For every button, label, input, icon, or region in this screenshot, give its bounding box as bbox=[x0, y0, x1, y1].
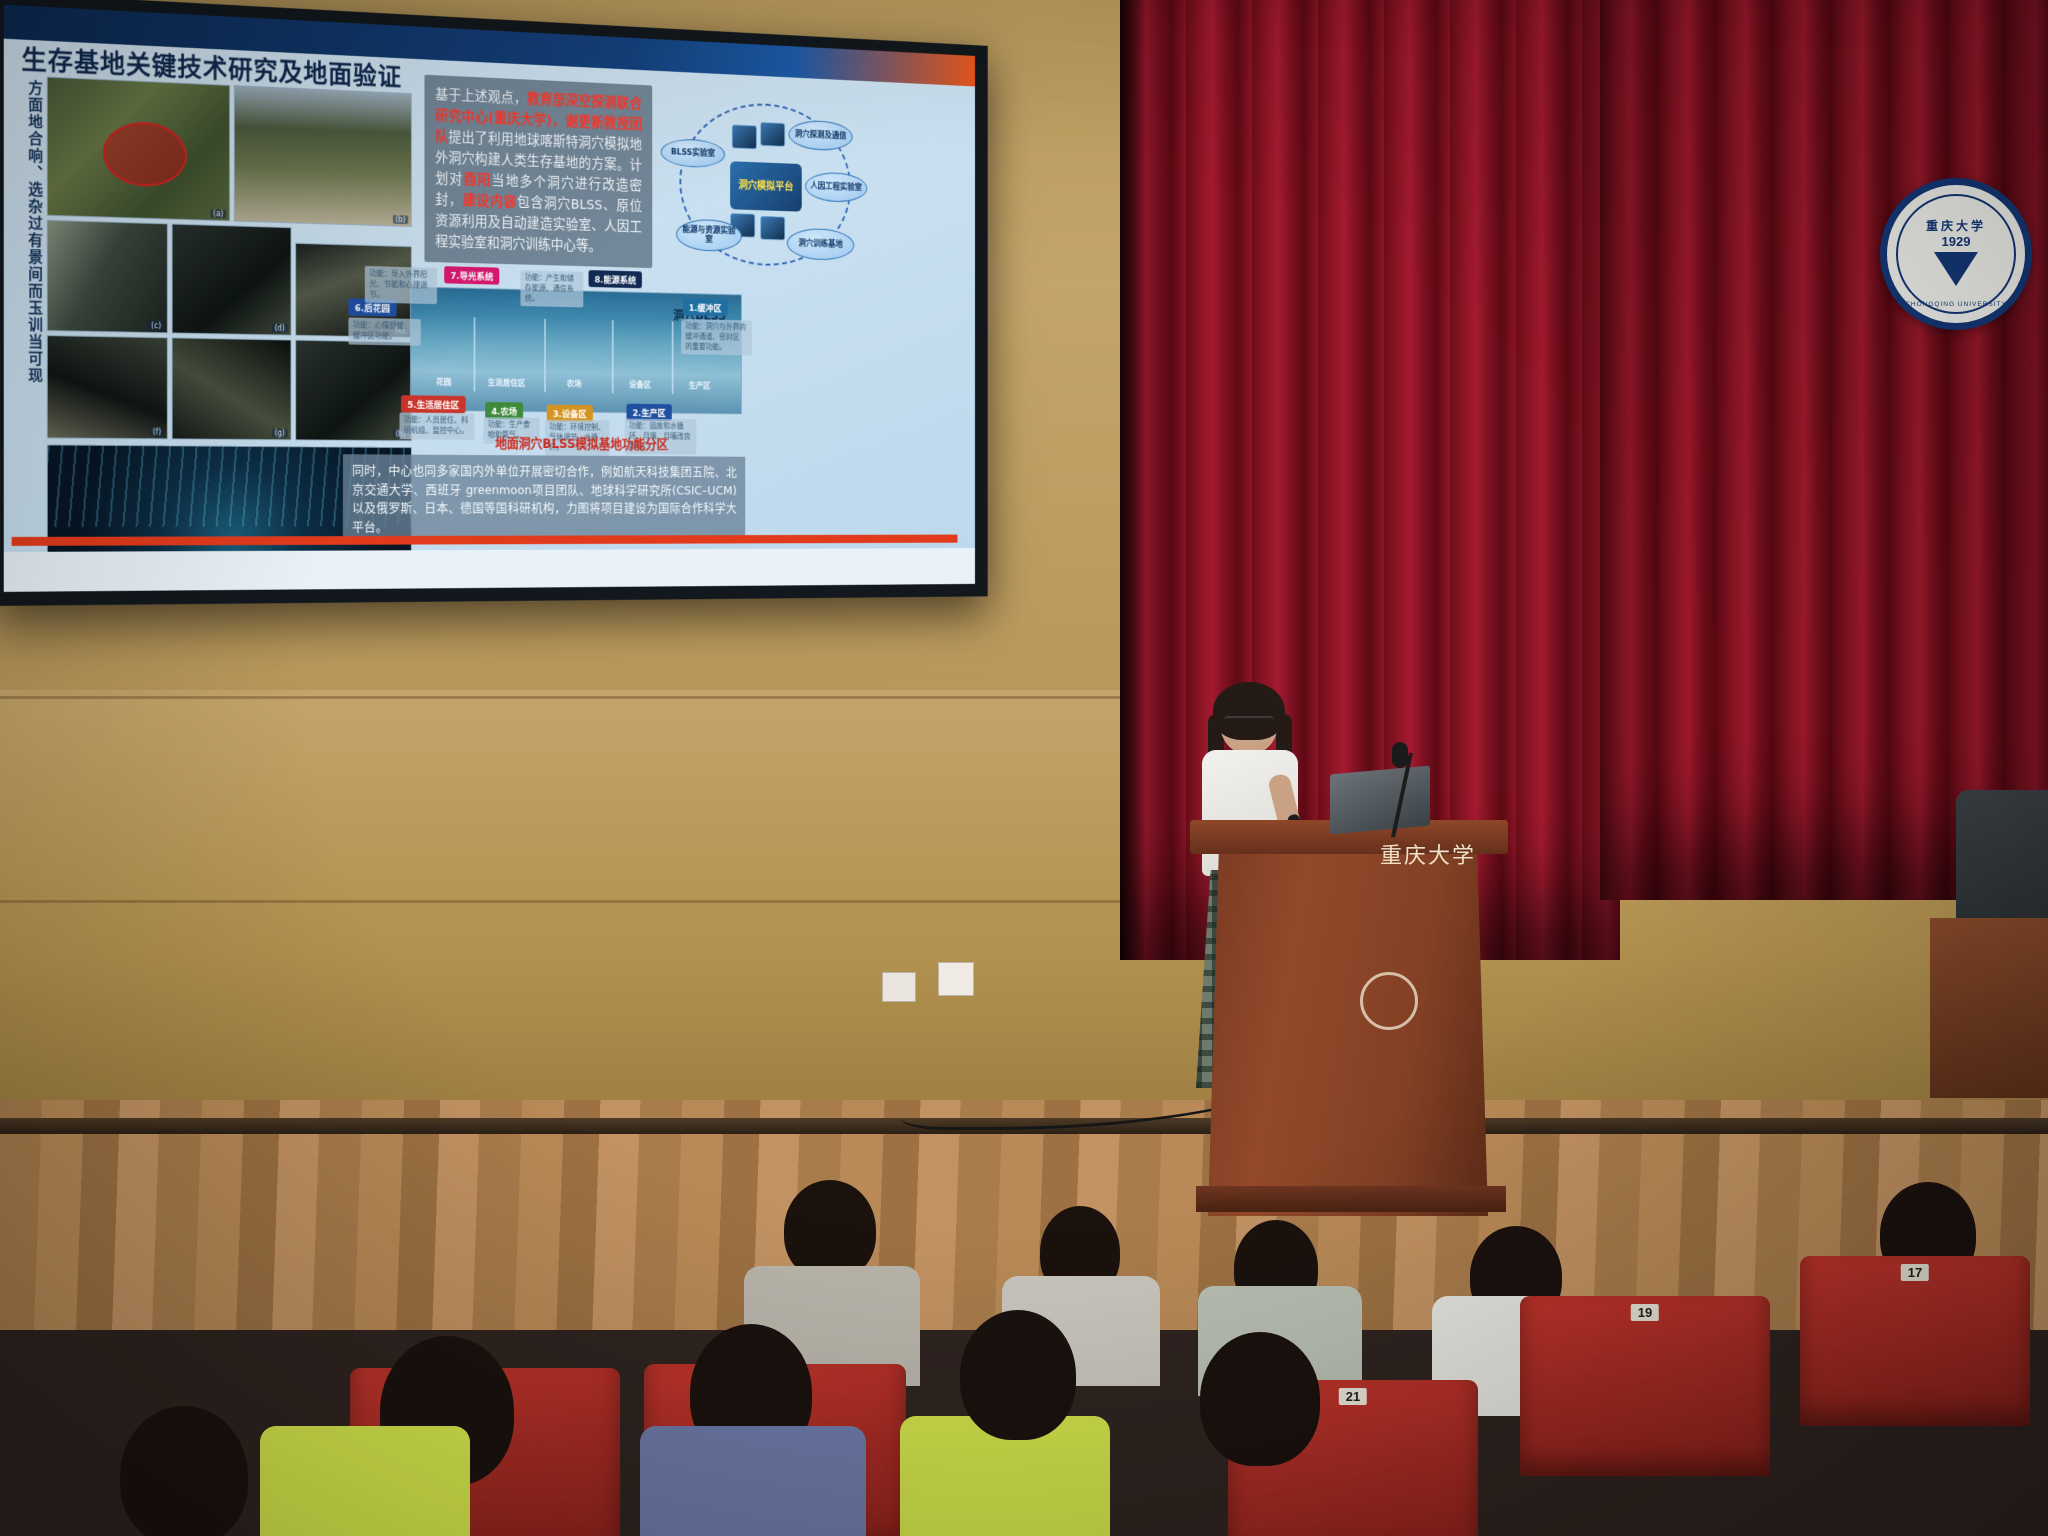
photo-karst-hill: (b) bbox=[234, 85, 412, 227]
speaker-hair bbox=[1213, 682, 1285, 740]
para-seg-highlight: 酉阳 bbox=[464, 173, 492, 189]
diagram-tile bbox=[760, 122, 785, 147]
podium bbox=[1208, 838, 1488, 1216]
photo-caption: (a) bbox=[210, 209, 226, 218]
seat-number: 21 bbox=[1339, 1388, 1367, 1405]
laptop bbox=[1330, 766, 1430, 835]
blss-tag-energy-system: 8.能源系统 bbox=[589, 270, 643, 288]
blss-bay-divider bbox=[612, 320, 614, 393]
photo-cave-interior-4: (g) bbox=[172, 337, 292, 440]
emblem-name-cn: 重庆大学 bbox=[1926, 217, 1986, 234]
photo-aerial-site: (a) bbox=[47, 77, 230, 222]
slide-footer-strip bbox=[4, 548, 975, 592]
wall-outlet bbox=[882, 972, 916, 1002]
glasses-icon bbox=[1224, 716, 1274, 728]
blss-zone-label-living: 生活居住区 bbox=[488, 376, 526, 388]
podium-seal bbox=[1360, 972, 1418, 1030]
blss-zone-label-garden: 花园 bbox=[436, 376, 451, 388]
stage-curtain-right bbox=[1600, 0, 2048, 900]
blss-bay-divider bbox=[672, 322, 674, 395]
seat-17[interactable]: 17 bbox=[1800, 1256, 2030, 1426]
photo-cave-interior-1: (d) bbox=[172, 224, 292, 336]
blss-zone-label-farm: 农场 bbox=[567, 378, 582, 389]
slide-left-column-text: 方面地合响、选杂过有景间而玉训当可现 bbox=[8, 79, 45, 592]
diagram-tile bbox=[732, 124, 757, 149]
audience-head-front bbox=[120, 1406, 248, 1536]
photo-cave-interior-5: (h) bbox=[295, 340, 412, 442]
audience-head-front bbox=[1200, 1332, 1320, 1466]
seat-number: 19 bbox=[1631, 1304, 1659, 1321]
blss-tag-living-area: 5.生活居住区 bbox=[401, 395, 465, 413]
para-seg: 基于上述观点， bbox=[435, 88, 527, 107]
emblem-name-en: CHONGQING UNIVERSITY bbox=[1905, 301, 2007, 308]
diagram-tile bbox=[760, 216, 785, 241]
blss-bay-divider bbox=[474, 317, 476, 391]
blss-zone-label-equipment: 设备区 bbox=[629, 379, 651, 391]
presentation-slide: 生存基地关键技术研究及地面验证 方面地合响、选杂过有景间而玉训当可现 (a) (… bbox=[4, 5, 975, 592]
slide-paragraph: 基于上述观点，教育部深空探测联合研究中心(重庆大学)，谢更新教授团队提出了利用地… bbox=[424, 75, 652, 269]
diagram-center-label: 洞穴模拟平台 bbox=[730, 161, 802, 211]
photo-cave-interior-3: (f) bbox=[47, 335, 168, 439]
photo-cave-entrance: (c) bbox=[47, 220, 168, 334]
blss-function-note-lighting: 功能：导入外界阳光、节能和心理调节。 bbox=[365, 266, 437, 305]
audience-seating: 25 23 21 19 17 bbox=[0, 1236, 2048, 1536]
slide-bottom-paragraph: 同时，中心也同多家国内外单位开展密切合作，例如航天科技集团五院、北京交通大学、西… bbox=[343, 454, 745, 545]
university-emblem: 重庆大学 1929 CHONGQING UNIVERSITY bbox=[1880, 178, 2032, 330]
para-seg-highlight: 建设内容 bbox=[463, 194, 517, 211]
blss-bay-divider bbox=[544, 319, 546, 393]
lecture-hall-photo: 重庆大学 1929 CHONGQING UNIVERSITY 生存基地关键技术研… bbox=[0, 0, 2048, 1536]
projection-screen-surface: 生存基地关键技术研究及地面验证 方面地合响、选杂过有景间而玉训当可现 (a) (… bbox=[4, 5, 975, 592]
wall-switch-plate bbox=[938, 962, 974, 996]
podium-base bbox=[1196, 1186, 1506, 1212]
emblem-triangle-icon bbox=[1934, 252, 1978, 286]
photo-caption: (b) bbox=[393, 215, 409, 224]
podium-university-script: 重庆大学 bbox=[1380, 838, 1476, 870]
photo-caption: (d) bbox=[272, 324, 288, 333]
blss-function-note-garden: 功能：心情舒缓、缓冲区功能。 bbox=[348, 318, 420, 346]
photo-caption: (c) bbox=[148, 321, 164, 330]
photo-caption: (f) bbox=[150, 427, 164, 436]
projection-screen: 生存基地关键技术研究及地面验证 方面地合响、选杂过有景间而玉训当可现 (a) (… bbox=[0, 0, 988, 606]
audience-head bbox=[784, 1180, 876, 1280]
seat-19[interactable]: 19 bbox=[1520, 1296, 1770, 1476]
emblem-inner-ring: 重庆大学 1929 CHONGQING UNIVERSITY bbox=[1896, 194, 2016, 314]
blss-tag-lighting-system: 7.导光系统 bbox=[444, 266, 499, 285]
audience-body-front bbox=[260, 1426, 470, 1536]
blss-tag-buffer-zone: 1.缓冲区 bbox=[683, 299, 728, 317]
blss-function-note-energy: 功能：产生和储存能源、通信系统。 bbox=[520, 270, 583, 308]
slide-accent-bar bbox=[12, 535, 958, 546]
blss-caption: 地面洞穴BLSS模拟基地功能分区 bbox=[410, 432, 748, 453]
emblem-year: 1929 bbox=[1942, 234, 1971, 249]
curtain-shadow bbox=[1120, 0, 1146, 960]
audience-head-front bbox=[960, 1310, 1076, 1440]
side-table bbox=[1930, 918, 2048, 1098]
microphone-icon bbox=[1392, 742, 1408, 768]
slide-circular-diagram: 洞穴模拟平台 BLSS实验室 洞穴探测及通信 人因工程实验室 洞穴训练基地 能源… bbox=[661, 88, 869, 280]
blss-zone-label-production: 生产区 bbox=[689, 379, 711, 390]
photo-caption: (g) bbox=[272, 429, 288, 438]
blss-function-note-buffer: 功能：洞穴与外界的 缓冲通道、密封区 的重要功能。 bbox=[681, 319, 752, 356]
seat-number: 17 bbox=[1901, 1264, 1929, 1281]
audience-body-front bbox=[640, 1426, 866, 1536]
